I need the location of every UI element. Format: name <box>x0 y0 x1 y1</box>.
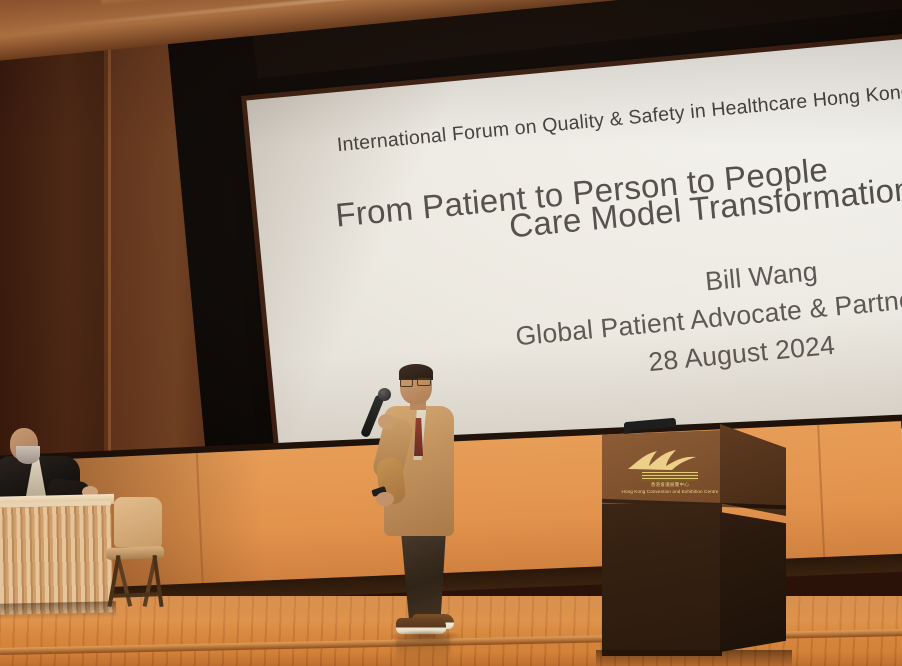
presenter-hand-holding-mic <box>378 414 395 429</box>
presenter-lower-hand <box>376 492 394 506</box>
lectern-front-panel: 香港會議展覽中心 Hong Kong Convention and Exhibi… <box>602 430 722 508</box>
lectern-body-front <box>602 504 722 656</box>
logo-chinese-name: 香港會議展覽中心 <box>638 482 702 488</box>
wall-band-seam <box>817 425 825 565</box>
lectern-shadow <box>596 650 792 666</box>
head-table-shadow <box>0 601 116 620</box>
presenter-floor-reflection <box>396 638 450 664</box>
lectern-body-side <box>720 512 786 652</box>
chair-leg <box>152 555 163 607</box>
hkcec-logo: 香港會議展覽中心 Hong Kong Convention and Exhibi… <box>620 448 720 504</box>
lectern-side-panel-upper <box>720 424 786 516</box>
presenter-glasses-bridge <box>399 379 432 386</box>
chair-cross-bar <box>110 592 162 598</box>
folding-chair <box>100 497 166 609</box>
presenter-standing <box>372 366 468 644</box>
stage-photo-scene: International Forum on Quality & Safety … <box>0 0 902 666</box>
chair-leg <box>108 555 121 607</box>
logo-bars <box>642 472 698 481</box>
head-table-skirt <box>0 500 113 615</box>
microphone-head-icon <box>378 388 391 401</box>
chair-backrest <box>114 497 162 547</box>
panelist-beard <box>16 446 40 464</box>
logo-english-name: Hong Kong Convention and Exhibition Cent… <box>620 489 720 494</box>
presenter-trousers <box>398 530 446 626</box>
gull-wing-roof-icon <box>626 448 714 474</box>
lectern: 香港會議展覽中心 Hong Kong Convention and Exhibi… <box>594 424 790 662</box>
